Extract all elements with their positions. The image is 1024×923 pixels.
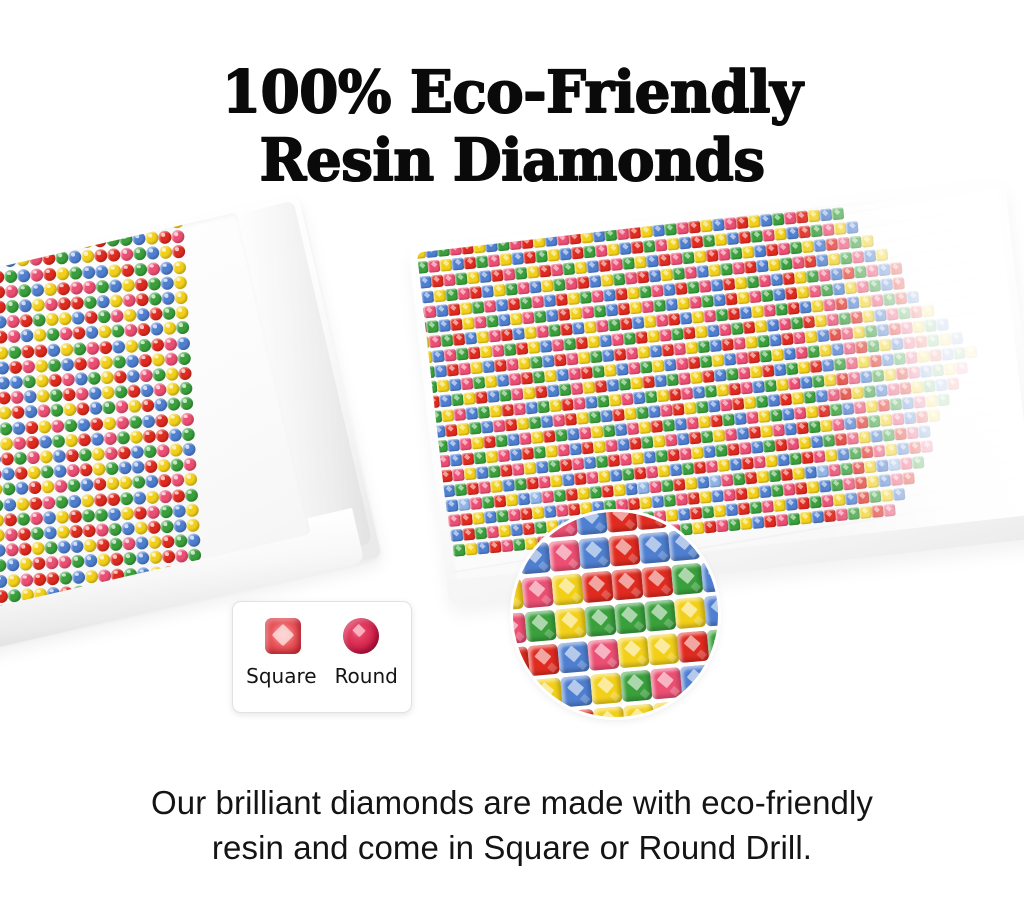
round-drill [22, 375, 36, 389]
square-drill [542, 430, 555, 443]
square-drill [763, 304, 776, 317]
square-drill [924, 319, 937, 332]
square-drill [715, 444, 728, 457]
square-drill [663, 494, 676, 507]
square-drill [667, 448, 680, 461]
square-drill [614, 423, 627, 436]
round-drill [184, 473, 198, 487]
square-drill [504, 418, 517, 431]
square-drill [772, 424, 785, 437]
square-drill [679, 447, 692, 460]
square-drill [723, 488, 736, 501]
square-drill [799, 301, 812, 314]
round-drill [74, 357, 88, 371]
square-drill [675, 357, 688, 370]
round-drill [0, 406, 12, 420]
round-drill [73, 342, 87, 356]
square-drill [617, 302, 630, 315]
round-drill [8, 589, 22, 603]
round-drill [168, 428, 182, 442]
square-drill [662, 419, 675, 432]
square-drill [641, 300, 654, 313]
square-drill [817, 404, 830, 417]
square-drill [628, 362, 641, 375]
square-drill [483, 300, 496, 313]
square-drill [444, 424, 457, 437]
square-drill [547, 249, 560, 262]
square-drill [581, 306, 594, 319]
square-drill [835, 297, 848, 310]
square-drill [777, 453, 790, 466]
round-drill [5, 543, 19, 557]
square-drill [880, 489, 893, 502]
square-drill [680, 312, 693, 325]
square-drill [580, 366, 593, 379]
square-drill [644, 599, 677, 632]
round-drill [183, 458, 197, 472]
round-drill [149, 551, 163, 565]
square-drill [535, 250, 548, 263]
square-drill [495, 510, 508, 523]
round-drill [166, 382, 180, 396]
square-drill [557, 641, 590, 674]
square-drill [690, 371, 703, 384]
square-drill [792, 331, 805, 344]
square-drill [602, 424, 615, 437]
round-drill [23, 390, 37, 404]
square-drill [491, 344, 504, 357]
square-drill [604, 228, 617, 241]
square-drill [538, 475, 551, 488]
square-drill [867, 340, 880, 353]
square-drill [571, 457, 584, 470]
square-drill [561, 398, 574, 411]
round-drill [0, 240, 3, 254]
square-drill [525, 401, 538, 414]
square-drill [822, 223, 835, 236]
square-drill [605, 439, 618, 452]
round-drill [30, 527, 44, 541]
square-drill [541, 490, 554, 503]
round-drill [19, 314, 33, 328]
round-drill [0, 422, 12, 436]
square-drill [785, 287, 798, 300]
round-drill [138, 338, 152, 352]
square-drill [780, 468, 793, 481]
square-drill [668, 313, 681, 326]
round-drill [118, 461, 132, 475]
round-drill [56, 510, 70, 524]
square-drill [571, 246, 584, 259]
square-drill [653, 299, 666, 312]
square-drill [717, 248, 730, 261]
square-drill [845, 357, 858, 370]
square-drill [526, 266, 539, 279]
square-drill [471, 437, 484, 450]
square-drill [658, 329, 671, 342]
square-drill [757, 410, 770, 423]
square-drill [810, 224, 823, 237]
square-drill [594, 380, 607, 393]
square-drill [465, 407, 478, 420]
square-drill [583, 456, 596, 469]
square-drill [613, 348, 626, 361]
square-drill [501, 539, 514, 552]
square-drill [883, 504, 896, 517]
square-drill [890, 337, 903, 350]
round-drill [176, 321, 190, 335]
square-drill [581, 571, 614, 604]
round-drill [58, 556, 72, 570]
square-drill [620, 317, 633, 330]
square-drill [612, 273, 625, 286]
round-drill [34, 344, 48, 358]
square-drill [476, 255, 489, 268]
square-drill [686, 417, 699, 430]
round-drill [100, 356, 114, 370]
square-drill [446, 364, 459, 377]
square-drill [765, 454, 778, 467]
square-drill [927, 409, 940, 422]
square-drill [502, 268, 515, 281]
square-drill [721, 338, 734, 351]
square-drill [578, 427, 591, 440]
square-drill [604, 364, 617, 377]
square-drill [874, 384, 887, 397]
square-drill [632, 316, 645, 329]
round-drill [9, 375, 23, 389]
square-drill [838, 312, 851, 325]
square-drill [713, 696, 718, 717]
square-drill [603, 289, 616, 302]
round-drill [186, 518, 200, 532]
square-drill [809, 496, 822, 509]
square-drill [514, 267, 527, 280]
round-drill [9, 360, 23, 374]
round-drill [4, 269, 18, 283]
square-drill [887, 458, 900, 471]
square-drill [627, 497, 640, 510]
square-drill [913, 396, 926, 409]
square-drill [745, 336, 758, 349]
square-drill [879, 338, 892, 351]
round-drill [108, 522, 122, 536]
square-drill [707, 628, 718, 661]
square-drill [474, 527, 487, 540]
square-drill [926, 334, 939, 347]
square-drill [523, 387, 536, 400]
square-drill [473, 451, 486, 464]
square-drill [763, 440, 776, 453]
square-drill [500, 464, 513, 477]
square-drill [637, 346, 650, 359]
square-drill [871, 505, 884, 518]
square-drill [635, 406, 648, 419]
square-drill [496, 374, 509, 387]
square-drill [547, 384, 560, 397]
round-drill [53, 221, 67, 235]
round-drill [33, 329, 47, 343]
square-drill [418, 276, 431, 289]
round-drill [41, 480, 55, 494]
square-drill [440, 470, 453, 483]
square-drill [678, 372, 691, 385]
square-drill [508, 373, 521, 386]
square-drill [692, 311, 705, 324]
round-drill [58, 312, 72, 326]
round-drill [52, 449, 66, 463]
square-drill [611, 408, 624, 421]
square-drill [656, 314, 669, 327]
square-drill [872, 369, 885, 382]
square-drill [606, 379, 619, 392]
square-drill [824, 374, 837, 387]
square-drill [884, 368, 897, 381]
square-drill [695, 401, 708, 414]
round-drill [0, 391, 11, 405]
round-drill [56, 266, 70, 280]
round-drill [7, 573, 21, 587]
square-drill [506, 358, 519, 371]
round-drill [55, 495, 69, 509]
round-drill [50, 404, 64, 418]
round-drill [60, 342, 74, 356]
round-drill [181, 427, 195, 441]
round-drill [172, 489, 186, 503]
square-drill [648, 480, 661, 493]
square-drill [766, 319, 779, 332]
round-drill [30, 268, 44, 282]
square-drill [426, 320, 439, 333]
square-drill [732, 262, 745, 275]
square-drill [734, 412, 747, 425]
round-drill [85, 569, 99, 583]
round-drill [174, 534, 188, 548]
round-drill [148, 536, 162, 550]
square-drill [622, 332, 635, 345]
square-drill [813, 450, 826, 463]
square-drill [608, 534, 641, 567]
square-drill [768, 334, 781, 347]
round-drill [78, 448, 92, 462]
square-drill [791, 392, 804, 405]
round-drill [5, 284, 19, 298]
square-gem-icon [265, 618, 301, 654]
square-drill [852, 326, 865, 339]
square-drill [909, 441, 922, 454]
round-drill [38, 420, 52, 434]
square-drill [501, 404, 514, 417]
round-drill [96, 280, 110, 294]
square-drill [866, 264, 879, 277]
square-drill [854, 265, 867, 278]
square-drill [575, 336, 588, 349]
square-drill [918, 425, 931, 438]
round-drill [15, 238, 29, 252]
square-drill [782, 272, 795, 285]
square-drill [899, 457, 912, 470]
square-drill [641, 436, 654, 449]
square-drill [725, 292, 738, 305]
square-drill [638, 421, 651, 434]
square-drill [761, 500, 774, 513]
square-drill [435, 304, 448, 317]
square-drill [687, 356, 700, 369]
square-drill [856, 280, 869, 293]
round-drill [173, 260, 187, 274]
round-drill [93, 478, 107, 492]
square-drill [460, 377, 473, 390]
square-drill [831, 207, 844, 220]
square-drill [661, 344, 674, 357]
square-drill [443, 484, 456, 497]
square-drill [421, 290, 434, 303]
square-drill [741, 457, 754, 470]
square-drill [540, 415, 553, 428]
square-drill [697, 340, 710, 353]
square-drill [541, 355, 554, 368]
square-drill [902, 336, 915, 349]
round-drill [133, 506, 147, 520]
square-drill [672, 267, 685, 280]
square-drill [593, 440, 606, 453]
round-drill [57, 282, 71, 296]
square-drill [524, 326, 537, 339]
square-drill [886, 383, 899, 396]
square-drill [590, 672, 623, 705]
square-drill [495, 299, 508, 312]
square-drill [859, 506, 872, 519]
square-drill [647, 633, 680, 666]
square-drill [652, 359, 665, 372]
square-drill [873, 309, 886, 322]
square-drill [547, 460, 560, 473]
square-drill [598, 259, 611, 272]
round-drill [115, 400, 129, 414]
square-drill [727, 443, 740, 456]
square-drill [600, 274, 613, 287]
round-drill [64, 418, 78, 432]
square-drill [758, 274, 771, 287]
square-drill [726, 232, 739, 245]
round-drill [69, 509, 83, 523]
square-drill [811, 299, 824, 312]
product-photo [0, 200, 1024, 760]
square-drill [440, 259, 453, 272]
square-drill [726, 368, 739, 381]
square-drill [704, 385, 717, 398]
square-drill [620, 670, 653, 703]
square-drill [779, 393, 792, 406]
round-drill [77, 418, 91, 432]
square-drill [431, 350, 444, 363]
round-drill [48, 373, 62, 387]
round-drill [112, 340, 126, 354]
square-drill [450, 318, 463, 331]
round-drill [44, 282, 58, 296]
square-drill [832, 282, 845, 295]
round-drill [162, 550, 176, 564]
square-drill [490, 269, 503, 282]
square-drill [710, 662, 718, 695]
square-drill [650, 667, 683, 700]
round-drill [121, 278, 135, 292]
square-drill [605, 304, 618, 317]
square-drill [540, 279, 553, 292]
square-drill [598, 470, 611, 483]
square-drill [576, 276, 589, 289]
square-drill [595, 244, 608, 257]
square-drill [558, 308, 571, 321]
round-drill [109, 279, 123, 293]
square-drill [786, 437, 799, 450]
round-drill [21, 344, 35, 358]
square-drill [481, 285, 494, 298]
square-drill [546, 309, 559, 322]
square-drill [497, 449, 510, 462]
square-drill [764, 515, 777, 528]
square-drill [783, 347, 796, 360]
square-drill [527, 644, 560, 677]
square-drill [739, 306, 752, 319]
square-drill [584, 605, 617, 638]
headline-line-1: 100% Eco-Friendly [15, 58, 1008, 126]
square-drill [838, 387, 851, 400]
square-drill [480, 421, 493, 434]
page-title: 100% Eco-Friendly Resin Diamonds [0, 58, 1024, 194]
round-drill [81, 493, 95, 507]
square-drill [684, 477, 697, 490]
square-drill [474, 316, 487, 329]
square-drill [567, 292, 580, 305]
square-drill [513, 402, 526, 415]
round-drill [28, 481, 42, 495]
square-drill [605, 512, 638, 533]
round-drill [111, 324, 125, 338]
round-drill [146, 505, 160, 519]
square-drill [649, 345, 662, 358]
square-drill [465, 543, 478, 556]
square-drill [934, 378, 947, 391]
round-drill [164, 337, 178, 351]
round-drill [19, 558, 33, 572]
square-drill [804, 330, 817, 343]
square-drill [883, 293, 896, 306]
round-drill [59, 327, 73, 341]
round-drill [114, 385, 128, 399]
round-drill [134, 262, 148, 276]
square-drill [744, 261, 757, 274]
round-drill [103, 416, 117, 430]
round-drill [84, 311, 98, 325]
square-drill [447, 303, 460, 316]
square-drill [712, 429, 725, 442]
square-drill [844, 281, 857, 294]
square-drill [728, 382, 741, 395]
square-drill [799, 511, 812, 524]
square-drill [646, 330, 659, 343]
round-drill [159, 489, 173, 503]
square-drill [909, 305, 922, 318]
square-drill [487, 390, 500, 403]
square-drill [670, 328, 683, 341]
square-drill [685, 341, 698, 354]
square-drill [664, 223, 677, 236]
square-drill [825, 238, 838, 251]
square-drill [937, 393, 950, 406]
square-drill [679, 236, 692, 249]
square-drill [518, 542, 551, 575]
